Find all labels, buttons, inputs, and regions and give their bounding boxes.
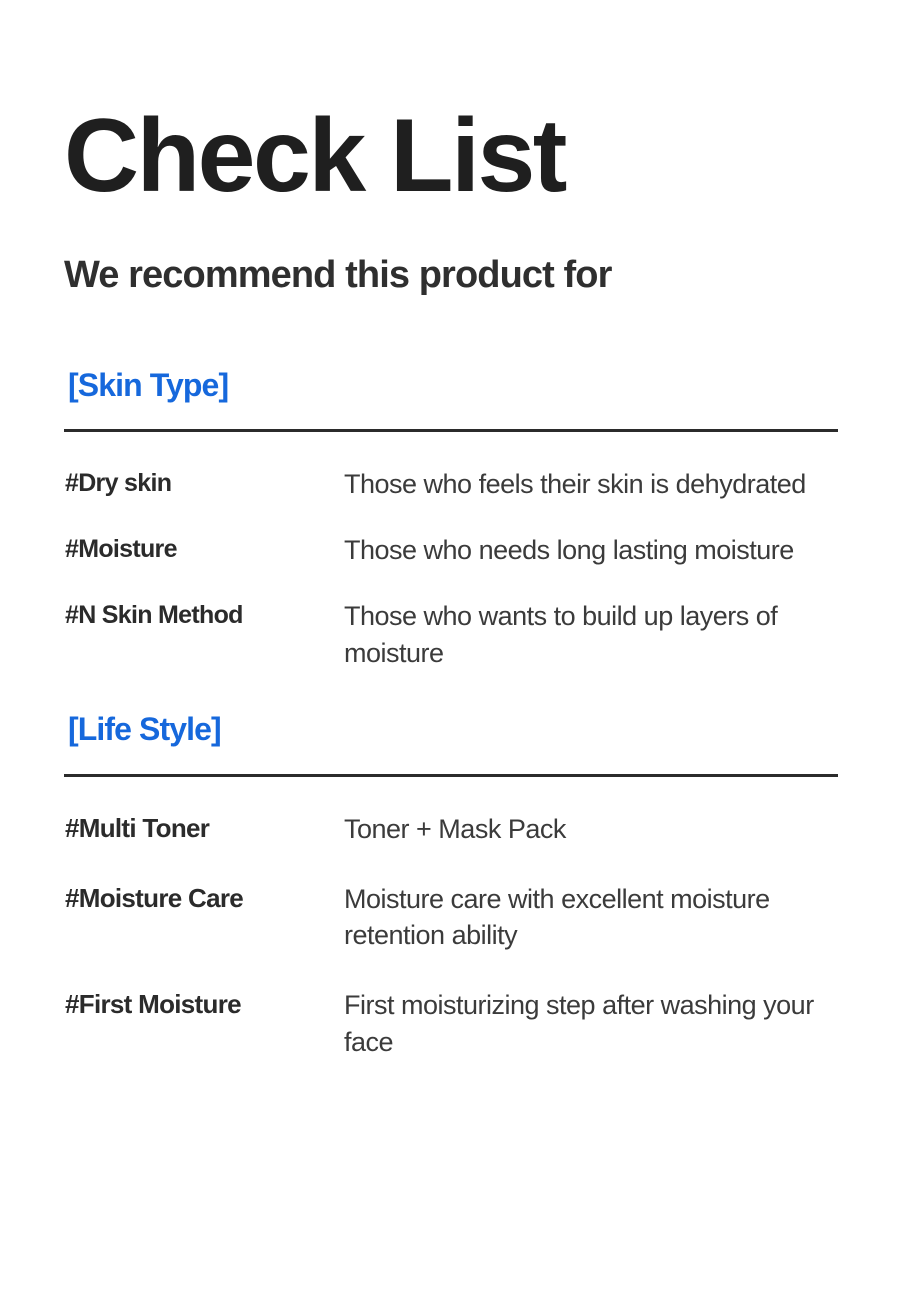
row-description: First moisturizing step after washing yo… — [344, 987, 836, 1060]
row-label: #Moisture Care — [64, 881, 344, 916]
row-label: #Moisture — [64, 532, 344, 566]
row-description: Toner + Mask Pack — [344, 811, 836, 848]
list-item: #First Moisture First moisturizing step … — [64, 987, 836, 1060]
list-item: #Multi Toner Toner + Mask Pack — [64, 811, 836, 848]
page-subtitle: We recommend this product for — [64, 208, 836, 297]
row-label: #Multi Toner — [64, 811, 344, 846]
row-description: Those who feels their skin is dehydrated — [344, 466, 836, 503]
section-heading-life-style: [Life Style] — [64, 711, 836, 748]
list-item: #N Skin Method Those who wants to build … — [64, 598, 836, 671]
list-item: #Dry skin Those who feels their skin is … — [64, 466, 836, 503]
check-list-page: Check List We recommend this product for… — [0, 0, 900, 1300]
row-description: Those who needs long lasting moisture — [344, 532, 836, 569]
skin-type-row-list: #Dry skin Those who feels their skin is … — [64, 432, 836, 671]
page-title: Check List — [64, 0, 836, 208]
row-label: #Dry skin — [64, 466, 344, 500]
row-label: #First Moisture — [64, 987, 344, 1022]
section-heading-skin-type: [Skin Type] — [64, 367, 836, 404]
life-style-row-list: #Multi Toner Toner + Mask Pack #Moisture… — [64, 777, 836, 1061]
row-description: Moisture care with excellent moisture re… — [344, 881, 836, 954]
row-description: Those who wants to build up layers of mo… — [344, 598, 836, 671]
list-item: #Moisture Care Moisture care with excell… — [64, 881, 836, 954]
section-life-style: [Life Style] #Multi Toner Toner + Mask P… — [64, 671, 836, 1060]
row-label: #N Skin Method — [64, 598, 344, 632]
section-skin-type: [Skin Type] #Dry skin Those who feels th… — [64, 297, 836, 672]
list-item: #Moisture Those who needs long lasting m… — [64, 532, 836, 569]
